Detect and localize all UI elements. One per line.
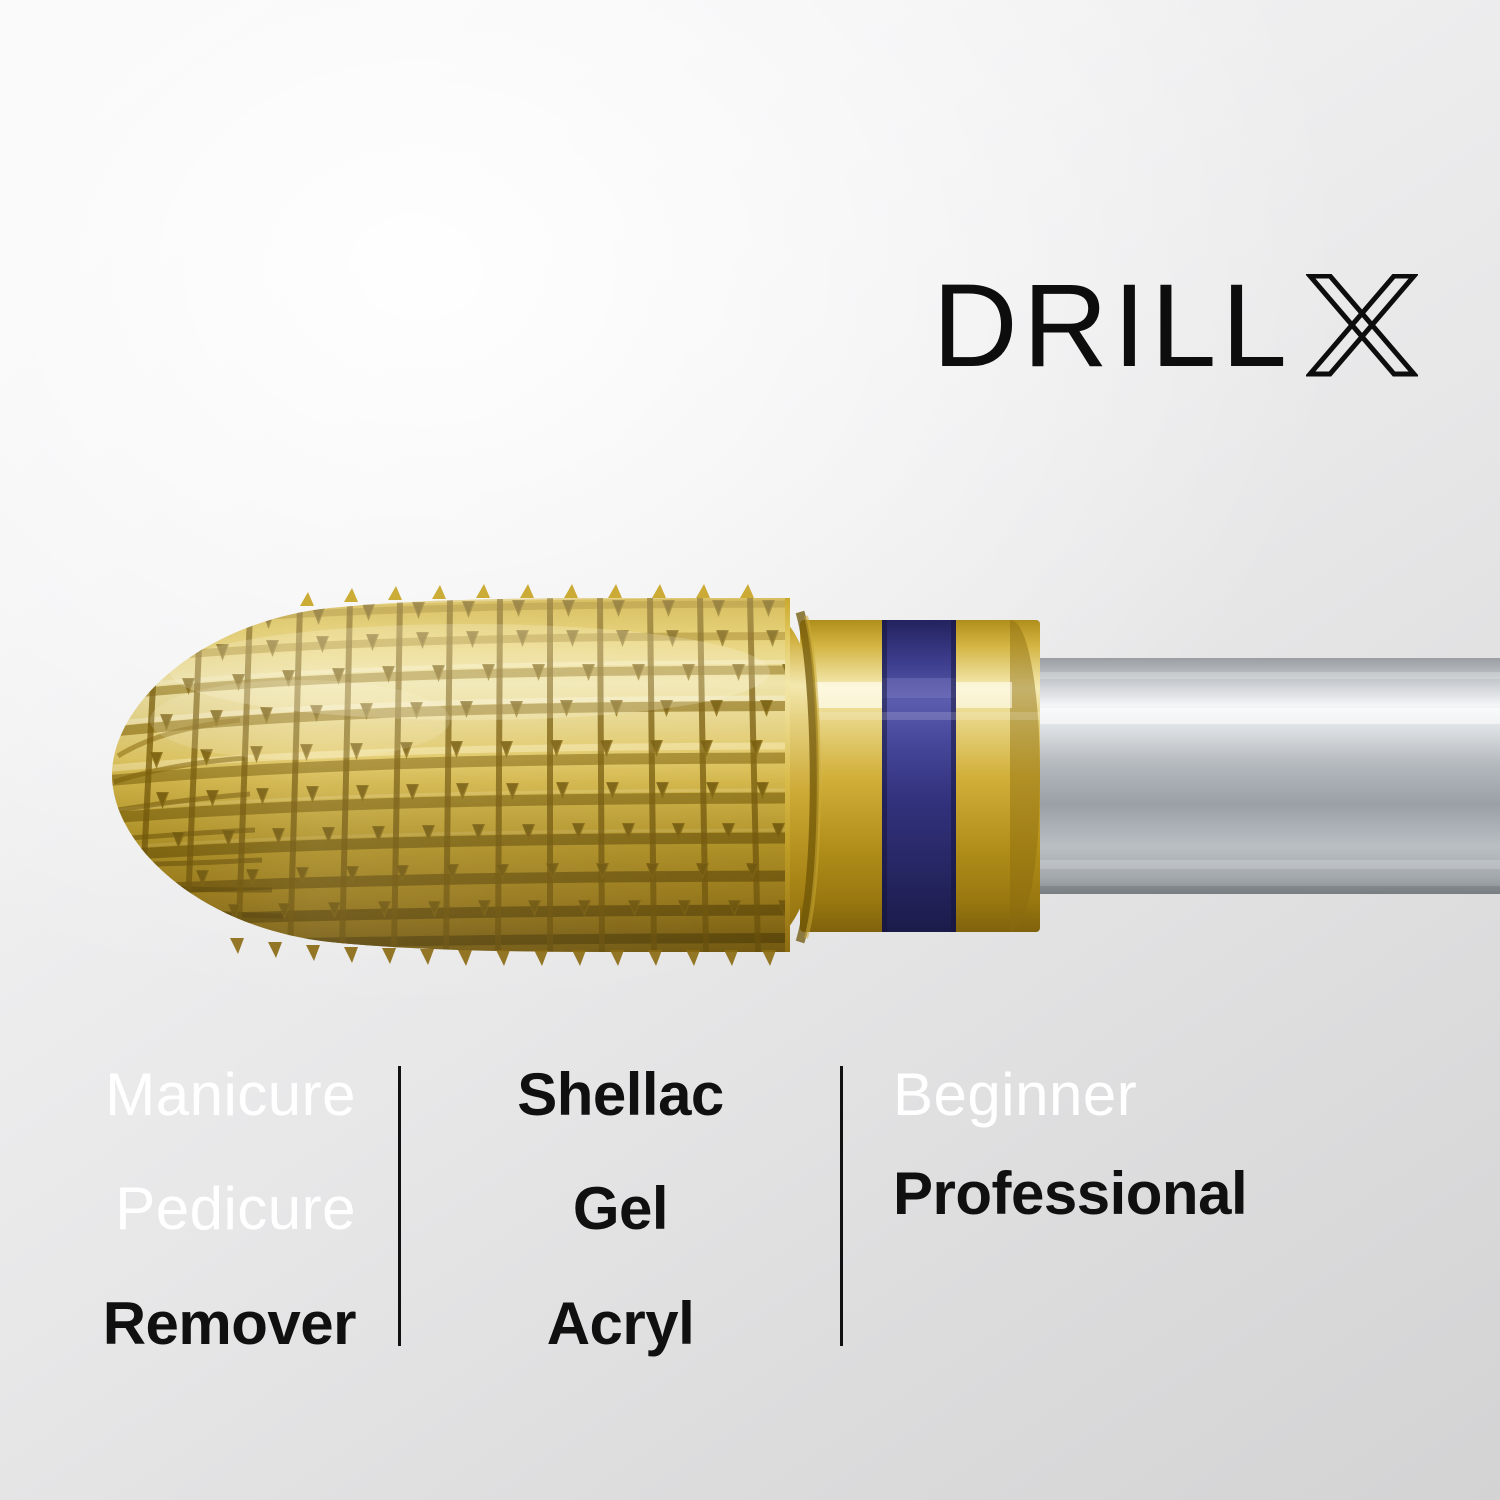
feature-column-skill-level: Beginner Professional <box>843 1058 1406 1358</box>
feature-manicure: Manicure <box>100 1064 356 1125</box>
x-monogram-icon <box>1306 274 1418 378</box>
product-image-canvas: DRILL <box>0 0 1500 1500</box>
feature-shellac: Shellac <box>401 1064 840 1125</box>
feature-pedicure: Pedicure <box>100 1178 356 1239</box>
feature-column-use-case: Manicure Pedicure Remover <box>0 1058 398 1358</box>
feature-strip: Manicure Pedicure Remover Shellac Gel Ac… <box>0 1058 1500 1358</box>
grit-identification-band <box>882 620 956 932</box>
feature-gel: Gel <box>401 1178 840 1239</box>
brand-logo: DRILL <box>933 266 1418 386</box>
feature-acryl: Acryl <box>401 1293 840 1354</box>
carbide-flame-head <box>0 560 900 990</box>
brand-wordmark: DRILL <box>933 267 1292 385</box>
drill-shaft <box>1010 658 1500 894</box>
feature-beginner: Beginner <box>893 1064 1406 1125</box>
feature-remover: Remover <box>100 1293 356 1354</box>
feature-column-material: Shellac Gel Acryl <box>401 1058 840 1358</box>
drill-shank <box>800 620 1040 932</box>
product-illustration <box>0 560 1500 990</box>
feature-professional: Professional <box>893 1163 1406 1224</box>
